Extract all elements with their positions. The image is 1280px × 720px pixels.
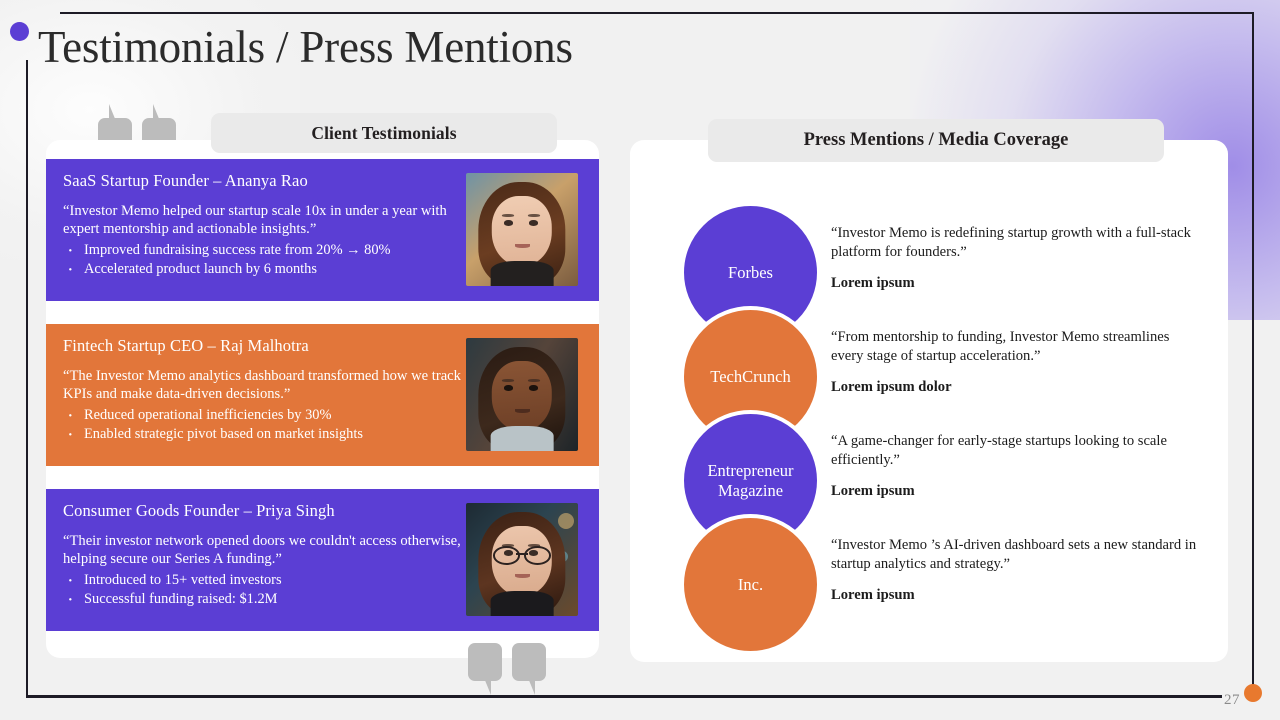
client-testimonials-header-label: Client Testimonials xyxy=(311,123,456,144)
testimonial-bullets: Reduced operational inefficiencies by 30… xyxy=(63,406,463,444)
press-mention-text: “Investor Memo is redefining startup gro… xyxy=(831,224,1201,292)
frame-line-right xyxy=(1252,12,1254,698)
client-testimonials-header: Client Testimonials xyxy=(211,113,557,153)
press-tag: Lorem ipsum xyxy=(831,483,1201,500)
testimonial-quote: “Their investor network opened doors we … xyxy=(63,533,463,569)
frame-line-top xyxy=(60,12,1254,14)
client-testimonials-panel: SaaS Startup Founder – Ananya Rao “Inves… xyxy=(46,140,599,658)
press-outlet-label: TechCrunch xyxy=(710,367,790,386)
press-mentions-panel: Forbes “Investor Memo is redefining star… xyxy=(630,140,1228,662)
testimonial-name: Fintech Startup CEO – Raj Malhotra xyxy=(63,336,463,356)
testimonial-quote: “The Investor Memo analytics dashboard t… xyxy=(63,368,463,404)
testimonial-card[interactable]: Fintech Startup CEO – Raj Malhotra “The … xyxy=(46,324,599,466)
press-quote: “A game-changer for early-stage startups… xyxy=(831,432,1201,469)
press-mention-text: “Investor Memo ’s AI-driven dashboard se… xyxy=(831,536,1201,604)
testimonial-avatar xyxy=(466,503,578,616)
testimonial-bullet: Introduced to 15+ vetted investors xyxy=(63,571,463,590)
portrait-woman-glasses xyxy=(466,503,578,616)
testimonial-name: SaaS Startup Founder – Ananya Rao xyxy=(63,171,463,191)
page-number: 27 xyxy=(1224,692,1240,709)
press-quote: “Investor Memo ’s AI-driven dashboard se… xyxy=(831,536,1201,573)
testimonial-card-body: Consumer Goods Founder – Priya Singh “Th… xyxy=(63,501,463,609)
press-tag: Lorem ipsum xyxy=(831,275,1201,292)
press-mention-text: “A game-changer for early-stage startups… xyxy=(831,432,1201,500)
orange-dot-decoration xyxy=(1244,684,1262,702)
press-mentions-header: Press Mentions / Media Coverage xyxy=(708,119,1164,162)
testimonial-avatar xyxy=(466,173,578,286)
press-mention-text: “From mentorship to funding, Investor Me… xyxy=(831,328,1201,396)
press-outlet-label: Forbes xyxy=(728,263,773,282)
press-outlet-badge[interactable]: Inc. xyxy=(680,514,821,655)
testimonial-card-body: SaaS Startup Founder – Ananya Rao “Inves… xyxy=(63,171,463,279)
press-tag: Lorem ipsum dolor xyxy=(831,379,1201,396)
testimonial-name: Consumer Goods Founder – Priya Singh xyxy=(63,501,463,521)
press-quote: “From mentorship to funding, Investor Me… xyxy=(831,328,1201,365)
press-mention-list: Forbes “Investor Memo is redefining star… xyxy=(630,140,1228,662)
testimonial-quote: “Investor Memo helped our startup scale … xyxy=(63,203,463,239)
testimonial-bullets: Improved fundraising success rate from 2… xyxy=(63,241,463,279)
testimonial-bullets: Introduced to 15+ vetted investors Succe… xyxy=(63,571,463,609)
testimonial-bullet: Reduced operational inefficiencies by 30… xyxy=(63,406,463,425)
testimonial-avatar xyxy=(466,338,578,451)
testimonial-bullet: Improved fundraising success rate from 2… xyxy=(63,241,463,260)
testimonial-card[interactable]: Consumer Goods Founder – Priya Singh “Th… xyxy=(46,489,599,631)
testimonial-bullet: Successful funding raised: $1.2M xyxy=(63,590,463,609)
testimonial-card-body: Fintech Startup CEO – Raj Malhotra “The … xyxy=(63,336,463,444)
page-title: Testimonials / Press Mentions xyxy=(38,24,573,71)
press-outlet-label: Entrepreneur Magazine xyxy=(684,461,817,500)
testimonial-bullet: Accelerated product launch by 6 months xyxy=(63,260,463,279)
slide-root: Testimonials / Press Mentions SaaS Start… xyxy=(0,0,1280,720)
testimonial-bullet: Enabled strategic pivot based on market … xyxy=(63,425,463,444)
press-tag: Lorem ipsum xyxy=(831,587,1201,604)
press-quote: “Investor Memo is redefining startup gro… xyxy=(831,224,1201,261)
press-outlet-label: Inc. xyxy=(738,575,763,594)
testimonial-card[interactable]: SaaS Startup Founder – Ananya Rao “Inves… xyxy=(46,159,599,301)
frame-line-left xyxy=(26,60,28,698)
purple-dot-decoration xyxy=(10,22,29,41)
portrait-woman-brown-hair xyxy=(466,173,578,286)
portrait-man-beard xyxy=(466,338,578,451)
press-mentions-header-label: Press Mentions / Media Coverage xyxy=(804,130,1069,151)
frame-line-bottom xyxy=(26,695,1222,698)
